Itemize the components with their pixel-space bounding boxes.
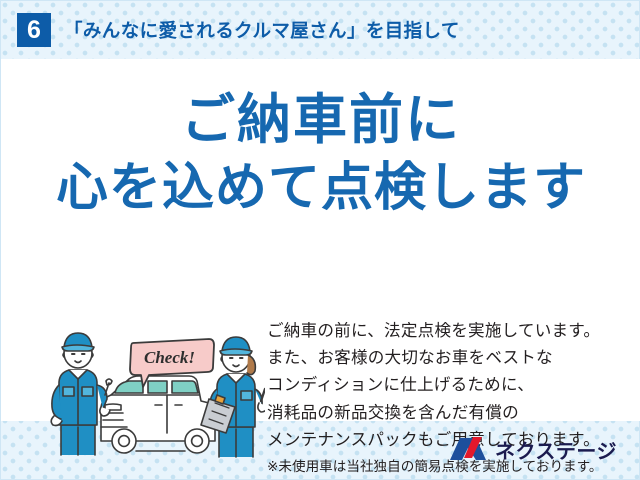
- body-line-1: ご納車の前に、法定点検を実施しています。: [267, 317, 627, 344]
- mechanics-illustration: Check!: [49, 321, 265, 461]
- nextage-n-mark: [448, 436, 488, 462]
- header-bar: 6 「みんなに愛されるクルマ屋さん」を目指して: [1, 1, 639, 59]
- body-line-4: 消耗品の新品交換を含んだ有償の: [267, 399, 627, 426]
- brand-name: ネクステージ: [495, 435, 617, 464]
- body-line-2: また、お客様の大切なお車をベストな: [267, 344, 627, 371]
- section-number-badge: 6: [17, 13, 51, 47]
- headline: ご納車前に 心を込めて点検します: [1, 85, 640, 223]
- headline-line-2: 心を込めて点検します: [1, 155, 640, 223]
- content-panel: ご納車前に 心を込めて点検します ご納車の前に、法定点検を実施しています。 また…: [1, 59, 640, 421]
- headline-line-1: ご納車前に: [1, 85, 640, 155]
- van-illustration: [101, 376, 215, 453]
- advertisement-root: 6 「みんなに愛されるクルマ屋さん」を目指して ご納車前に 心を込めて点検します…: [0, 0, 640, 480]
- speech-bubble-text: Check!: [144, 348, 195, 367]
- body-line-3: コンディションに仕上げるために、: [267, 371, 627, 398]
- header-title: 「みんなに愛されるクルマ屋さん」を目指して: [64, 17, 460, 43]
- brand-logo: ネクステージ: [448, 433, 617, 465]
